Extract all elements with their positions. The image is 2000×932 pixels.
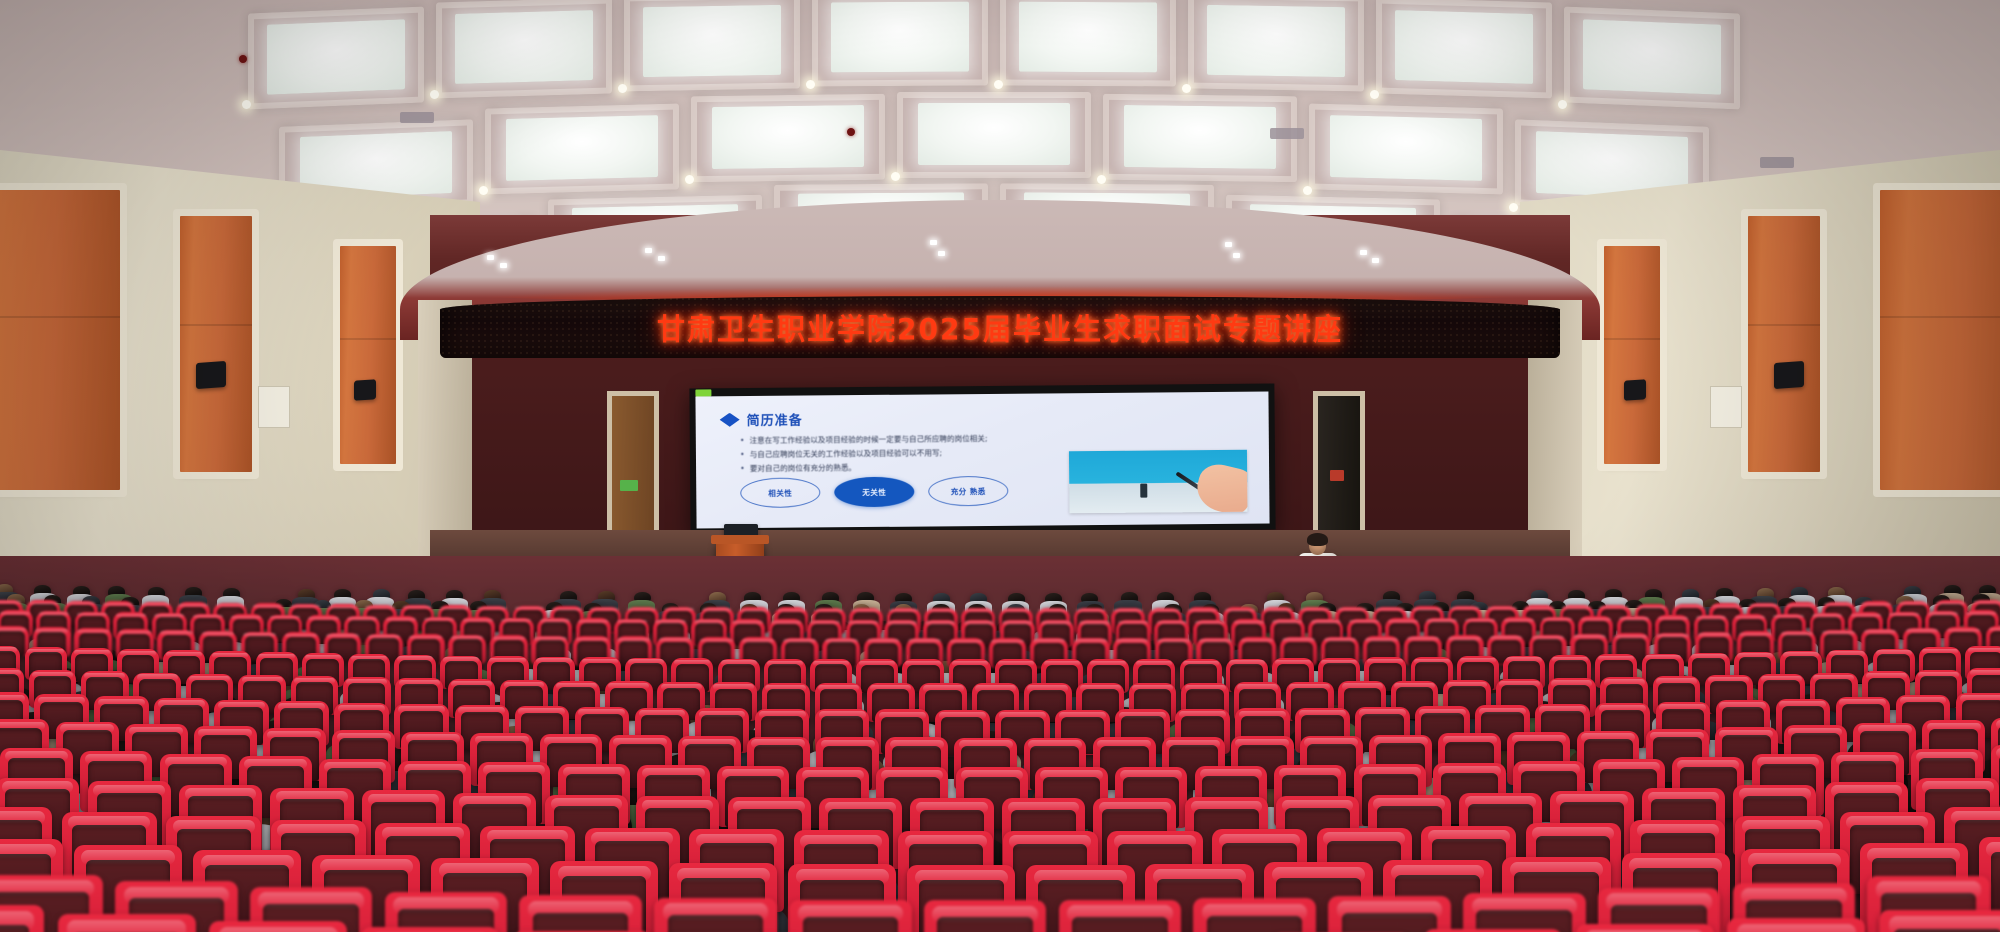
arch-spotlight <box>938 251 945 256</box>
recessed-downlight <box>618 84 627 93</box>
slide-photo <box>1069 450 1248 514</box>
ceiling-light-panel <box>1583 20 1720 95</box>
auditorium-seat <box>361 927 499 932</box>
arch-spotlight <box>500 263 507 268</box>
ceiling-vent <box>400 112 434 123</box>
auditorium-seat <box>1879 910 2000 932</box>
auditorium-seat <box>1059 900 1182 932</box>
recessed-downlight <box>1303 186 1312 195</box>
arch-spotlight <box>930 240 937 245</box>
auditorium-seat <box>1727 918 1865 932</box>
recessed-downlight <box>1558 100 1567 109</box>
recessed-downlight <box>1509 203 1518 212</box>
left-wall <box>0 150 480 580</box>
recessed-downlight <box>1182 84 1191 93</box>
arch-spotlight <box>658 256 665 261</box>
podium-top <box>711 535 769 544</box>
auditorium-seat <box>1328 896 1451 932</box>
ceiling-light-panel <box>1207 5 1344 76</box>
ceiling-coffer <box>485 103 679 194</box>
led-banner: 甘肃卫生职业学院2025届毕业生求职面试专题讲座 <box>440 296 1560 358</box>
recessed-downlight <box>994 80 1003 89</box>
recessed-downlight <box>1370 90 1379 99</box>
ceiling-light-panel <box>1395 11 1532 84</box>
diamond-bullet-icon <box>720 413 740 427</box>
photo-object <box>1140 484 1147 498</box>
recessed-downlight <box>685 175 694 184</box>
ceiling-coffer <box>436 0 612 99</box>
wall-sign <box>1710 386 1742 428</box>
ceiling-vent <box>1760 157 1794 168</box>
right-wall <box>1520 150 2000 580</box>
wall-panel-door <box>1604 246 1660 464</box>
slide-pill: 充分 熟悉 <box>928 476 1008 507</box>
projection-screen-frame: 简历准备 • 注意在写工作经验以及项目经验的时候一定要与自己所应聘的岗位相关; … <box>689 383 1275 534</box>
smoke-detector-icon <box>847 128 855 136</box>
ceiling-coffer <box>897 92 1091 178</box>
ceiling-coffer <box>1309 103 1503 194</box>
wall-speaker <box>196 361 226 389</box>
wall-sign <box>258 386 290 428</box>
wall-panel-door <box>180 216 252 472</box>
ceiling-coffer <box>1000 0 1176 87</box>
bullet-dot-icon: • <box>740 464 745 473</box>
auditorium-seat <box>789 900 912 932</box>
ceiling-coffer <box>1103 94 1297 183</box>
arch-spotlight <box>487 255 494 260</box>
ceiling-coffer <box>1564 6 1740 109</box>
arch-spotlight <box>645 248 652 253</box>
exit-sign-icon <box>620 480 638 491</box>
ceiling-light-panel <box>643 5 780 76</box>
auditorium-seat <box>1463 893 1586 932</box>
ceiling-light-panel <box>712 106 863 170</box>
slide-title: 简历准备 <box>747 410 803 429</box>
ceiling-coffer <box>812 0 988 87</box>
arch-spotlight <box>1233 253 1240 258</box>
audience-seating <box>0 556 2000 932</box>
exit-sign-icon <box>1330 470 1344 481</box>
ceiling-vent <box>1270 128 1304 139</box>
auditorium-photo: 甘肃卫生职业学院2025届毕业生求职面试专题讲座 简历准备 • 注意在写工作经验… <box>0 0 2000 932</box>
bullet-dot-icon: • <box>740 436 745 445</box>
ceiling-light-panel <box>918 103 1069 165</box>
wall-panel-door <box>340 246 396 464</box>
ceiling-light-panel <box>455 11 592 84</box>
ceiling-coffer <box>691 94 885 183</box>
auditorium-seat <box>385 892 508 932</box>
ceiling-light-panel <box>506 115 657 181</box>
auditorium-seat <box>1193 898 1316 932</box>
auditorium-seat <box>924 900 1047 932</box>
ceiling-light-panel <box>831 2 968 72</box>
wall-panel-door <box>1880 190 2000 490</box>
slide-pill-group: 相关性 无关性 充分 熟悉 <box>740 476 1008 508</box>
presenter-hair <box>1307 533 1328 546</box>
auditorium-seat <box>0 905 44 932</box>
hand-shape <box>1193 460 1248 513</box>
ceiling-coffer <box>1188 0 1364 91</box>
led-banner-text: 甘肃卫生职业学院2025届毕业生求职面试专题讲座 <box>440 307 1560 349</box>
projection-screen: 简历准备 • 注意在写工作经验以及项目经验的时候一定要与自己所应聘的岗位相关; … <box>695 392 1269 529</box>
ceiling-light-panel <box>1019 2 1156 72</box>
recessed-downlight <box>891 172 900 181</box>
auditorium-seat <box>654 898 777 932</box>
auditorium-seat <box>519 895 642 932</box>
recessed-downlight <box>479 186 488 195</box>
wall-speaker <box>1624 379 1646 401</box>
slide-pill: 相关性 <box>740 477 820 508</box>
wall-panel-door <box>1748 216 1820 472</box>
recessed-downlight <box>242 100 251 109</box>
ceiling-light-panel <box>267 20 404 95</box>
auditorium-seat <box>58 914 196 932</box>
arch-spotlight <box>1372 258 1379 263</box>
slide-pill-active: 无关性 <box>834 477 914 508</box>
ceiling-coffer <box>624 0 800 91</box>
ceiling-coffer <box>1376 0 1552 99</box>
bullet-dot-icon: • <box>740 450 745 459</box>
slide-bullet: • 注意在写工作经验以及项目经验的时候一定要与自己所应聘的岗位相关; <box>740 432 1240 445</box>
smoke-detector-icon <box>239 55 247 63</box>
arch-spotlight <box>1225 242 1232 247</box>
stage-left-door <box>612 396 654 546</box>
wall-speaker <box>1774 361 1804 389</box>
auditorium-seat <box>1576 924 1714 932</box>
ceiling-coffer <box>248 6 424 109</box>
slide-bullet-text: 要对自己的岗位有充分的熟悉。 <box>750 463 856 473</box>
wall-speaker <box>354 379 376 401</box>
arch-spotlight <box>1360 250 1367 255</box>
ceiling-light-panel <box>1124 106 1275 170</box>
wall-panel-door <box>0 190 120 490</box>
slide-bullet-text: 注意在写工作经验以及项目经验的时候一定要与自己所应聘的岗位相关; <box>750 434 988 445</box>
slide-bullet-text: 与自己应聘岗位无关的工作经验以及项目经验可以不用写; <box>750 448 942 459</box>
ceiling-light-panel <box>1330 115 1481 181</box>
recessed-downlight <box>806 80 815 89</box>
auditorium-seat <box>209 921 347 932</box>
slide-title-row: 简历准备 <box>720 410 803 430</box>
